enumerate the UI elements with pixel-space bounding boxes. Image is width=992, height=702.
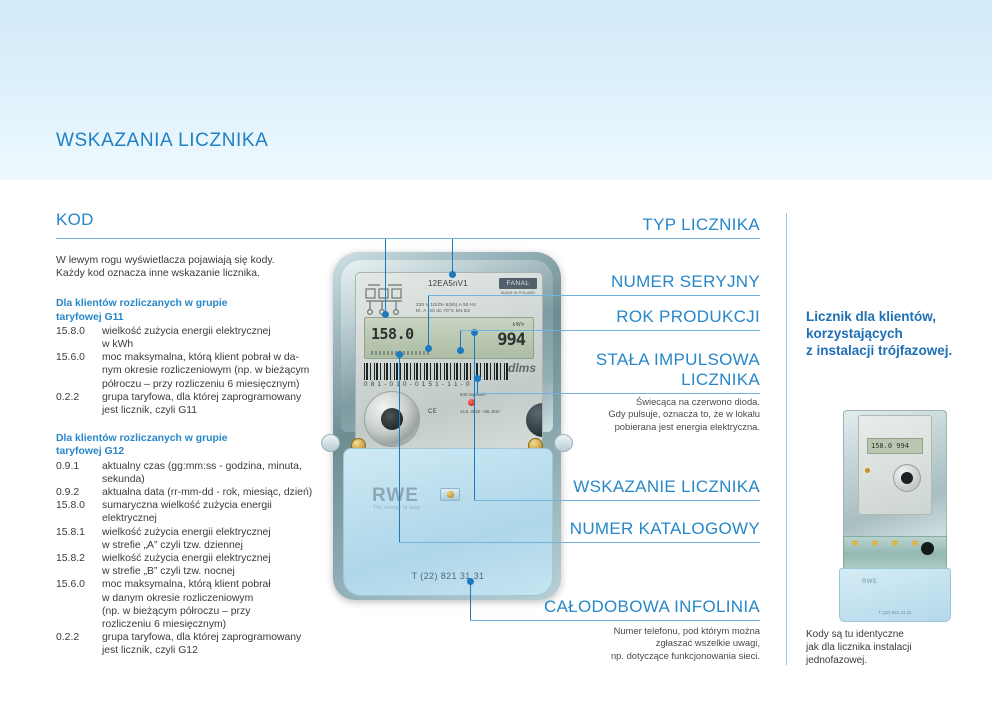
meter3-faceplate: 158.0 994 — [858, 415, 932, 515]
code-key: 0.2.2 — [56, 391, 102, 417]
column-divider — [786, 213, 787, 665]
kod-intro: W lewym rogu wyświetlacza pojawiają się … — [56, 254, 336, 280]
g12-code-table: 0.9.1 aktualny czas (gg:mm:ss - godzina,… — [56, 460, 328, 658]
infolinia-note-line3: np. dotyczące funkcjonowania sieci. — [530, 650, 760, 662]
g12-subheading-line2: taryfowej G12 — [56, 445, 336, 458]
rule-calodobowa — [470, 620, 760, 621]
three-phase-heading: Licznik dla klientów, korzystających z i… — [806, 308, 981, 359]
cover-seal — [440, 488, 460, 501]
rule-numer-seryjny — [428, 295, 760, 296]
code-key: 15.8.1 — [56, 526, 102, 552]
code-key: 15.8.0 — [56, 325, 102, 351]
connector-typ-v — [452, 238, 453, 274]
meter3-housing: 158.0 994 — [843, 410, 947, 540]
code-key: 0.9.1 — [56, 460, 102, 486]
meter-photo-three-phase: 158.0 994 RWE T (22) 821 31 31 — [835, 410, 953, 610]
callout-infolinia-note: Numer telefonu, pod którym można zgłasza… — [530, 625, 760, 662]
rule-stala-impulsowa — [477, 393, 760, 394]
callout-rok-produkcji-label: ROK PRODUKCJI — [530, 307, 760, 327]
meter3-black-knob — [921, 542, 934, 555]
code-key: 15.8.0 — [56, 499, 102, 525]
meter3-lcd-value: 158.0 994 — [868, 439, 922, 453]
rwe-logo: RWE — [372, 485, 419, 507]
code-key: 0.2.2 — [56, 631, 102, 657]
three-phase-heading-line1: Licznik dla klientów, — [806, 308, 981, 325]
callout-wskazanie-licznika: WSKAZANIE LICZNIKA — [530, 477, 760, 497]
stala-note-line1: Świecąca na czerwono dioda. — [530, 396, 760, 408]
table-row: 0.9.1 aktualny czas (gg:mm:ss - godzina,… — [56, 460, 328, 486]
callout-stala-impulsowa-line1: STAŁA IMPULSOWA — [530, 350, 760, 370]
meter3-rwe-logo: RWE — [862, 579, 877, 585]
code-key: 15.8.2 — [56, 552, 102, 578]
lcd-units: kWh — [513, 322, 525, 328]
table-row: 0.2.2 grupa taryfowa, dla której zaprogr… — [56, 391, 328, 417]
three-phase-note-line3: jednofazowej. — [806, 654, 976, 667]
ce-mark: CE — [428, 409, 437, 415]
callout-rok-produkcji: ROK PRODUKCJI — [530, 307, 760, 327]
connector-katalog-v — [399, 354, 400, 543]
optical-port — [364, 391, 420, 447]
callout-stala-impulsowa-line2: LICZNIKA — [530, 370, 760, 390]
table-row: 0.2.2 grupa taryfowa, dla której zaprogr… — [56, 631, 328, 657]
connector-serial-v — [428, 295, 429, 348]
page-title: WSKAZANIA LICZNIKA — [56, 130, 268, 152]
g11-code-table: 15.8.0 wielkość zużycia energii elektryc… — [56, 325, 328, 417]
rule-numer-katalogowy — [399, 542, 760, 543]
code-desc: aktualny czas (gg:mm:ss - godzina, minut… — [102, 460, 328, 486]
code-desc: grupa taryfowa, dla której zaprogramowan… — [102, 631, 328, 657]
connector-dot-kod — [382, 311, 389, 318]
three-phase-note-line1: Kody są tu identyczne — [806, 628, 976, 641]
meter3-terminal-screw — [852, 540, 858, 546]
meter3-led-indicator — [865, 468, 870, 473]
three-phase-note: Kody są tu identyczne jak dla licznika i… — [806, 628, 976, 667]
callout-numer-katalogowy-label: NUMER KATALOGOWY — [530, 519, 760, 539]
seal-wing-right — [554, 434, 573, 452]
infolinia-note-line1: Numer telefonu, pod którym można — [530, 625, 760, 637]
header-band — [0, 0, 992, 180]
connector-dot-typ — [449, 271, 456, 278]
callout-calodobowa-infolinia: CAŁODOBOWA INFOLINIA — [530, 597, 760, 617]
rule-wskazanie-licznika — [474, 500, 760, 501]
connector-infolinia-v — [470, 582, 471, 621]
kod-intro-line2: Każdy kod oznacza inne wskazanie licznik… — [56, 267, 336, 280]
three-phase-column: Licznik dla klientów, korzystających z i… — [806, 308, 981, 359]
code-desc: grupa taryfowa, dla której zaprogramowan… — [102, 391, 328, 417]
meter3-terminal-screw — [872, 540, 878, 546]
callout-typ-licznika: TYP LICZNIKA — [530, 215, 760, 235]
meter-type-code: 12EA5nV1 — [428, 279, 468, 288]
three-phase-heading-line2: korzystających — [806, 325, 981, 342]
meter3-terminal-screw — [912, 540, 918, 546]
code-desc: moc maksymalna, którą klient pobrał w da… — [102, 351, 328, 391]
lcd-code-value: 158.0 — [371, 325, 414, 343]
code-desc: moc maksymalna, którą klient pobrał w da… — [102, 578, 328, 631]
connector-kod-v — [385, 238, 386, 314]
table-row: 15.6.0 moc maksymalna, którą klient pobr… — [56, 351, 328, 391]
three-phase-note-line2: jak dla licznika instalacji — [806, 641, 976, 654]
ce-extra-text: 14.6 .3838 - 05L M10 — [460, 409, 500, 414]
meter3-phone-number: T (22) 821 31 31 — [840, 610, 950, 615]
code-desc: wielkość zużycia energii elektrycznej w … — [102, 325, 328, 351]
meter3-terminal-screw — [892, 540, 898, 546]
callout-numer-katalogowy: NUMER KATALOGOWY — [530, 519, 760, 539]
left-codes-column: KOD W lewym rogu wyświetlacza pojawiają … — [56, 210, 336, 658]
table-row: 15.8.1 wielkość zużycia energii elektryc… — [56, 526, 328, 552]
meter-barcode — [364, 363, 510, 380]
callout-wskazanie-licznika-label: WSKAZANIE LICZNIKA — [530, 477, 760, 497]
table-row: 0.9.2 aktualna data (rr-mm-dd - rok, mie… — [56, 486, 328, 499]
code-key: 15.6.0 — [56, 351, 102, 391]
meter-faceplate: 12EA5nV1 FANAL MADE IN POLAND 230 V 10/2… — [355, 272, 543, 452]
connector-dot-rok — [457, 347, 464, 354]
callout-calodobowa-infolinia-label: CAŁODOBOWA INFOLINIA — [530, 597, 760, 617]
callout-stala-impulsowa: STAŁA IMPULSOWA LICZNIKA — [530, 350, 760, 390]
meter-specs: 230 V 10/25–5(60) A 50 Hz Kl. A -40 do 7… — [416, 302, 538, 314]
terminal-cover: RWE The energy to lead T (22) 821 31 31 — [343, 448, 553, 596]
meter-specs-line2: Kl. A -40 do 70°C M1 E2 — [416, 308, 538, 314]
code-desc: wielkość zużycia energii elektrycznej w … — [102, 526, 328, 552]
code-desc: sumaryczna wielkość zużycia energii elek… — [102, 499, 328, 525]
rwe-tagline: The energy to lead — [373, 505, 420, 511]
code-desc: aktualna data (rr-mm-dd - rok, miesiąc, … — [102, 486, 328, 499]
stala-note-line3: pobierana jest energia elektryczna. — [530, 421, 760, 433]
meter3-terminal-cover: RWE T (22) 821 31 31 — [839, 568, 951, 622]
three-phase-heading-line3: z instalacji trójfazowej. — [806, 342, 981, 359]
table-row: 15.8.0 sumaryczna wielkość zużycia energ… — [56, 499, 328, 525]
rule-rok-produkcji — [460, 330, 760, 331]
table-row: 15.8.0 wielkość zużycia energii elektryc… — [56, 325, 328, 351]
stala-note-line2: Gdy pulsuje, oznacza to, że w lokalu — [530, 408, 760, 420]
meter3-terminal-block — [843, 536, 947, 572]
code-key: 0.9.2 — [56, 486, 102, 499]
kod-intro-line1: W lewym rogu wyświetlacza pojawiają się … — [56, 254, 336, 267]
connector-wskazanie-v — [474, 333, 475, 501]
code-desc: wielkość zużycia energii elektrycznej w … — [102, 552, 328, 578]
table-row: 15.6.0 moc maksymalna, którą klient pobr… — [56, 578, 328, 631]
meter-lcd-display: 158.0 kWh 994 — [364, 317, 534, 359]
lcd-reading-value: 994 — [497, 330, 525, 350]
code-key: 15.6.0 — [56, 578, 102, 631]
callout-numer-seryjny-label: NUMER SERYJNY — [530, 272, 760, 292]
meter3-optical-port — [893, 464, 921, 492]
g11-subheading: Dla klientów rozliczanych w grupie taryf… — [56, 297, 336, 323]
meter-phone-number: T (22) 821 31 31 — [344, 571, 552, 581]
g11-subheading-line1: Dla klientów rozliczanych w grupie — [56, 297, 336, 310]
connector-dot-katalog — [396, 351, 403, 358]
meter3-lcd-display: 158.0 994 — [867, 438, 923, 454]
g11-subheading-line2: taryfowej G11 — [56, 311, 336, 324]
infolinia-note-line2: zgłaszać wszelkie uwagi, — [530, 637, 760, 649]
kod-heading: KOD — [56, 210, 336, 230]
callout-typ-licznika-label: TYP LICZNIKA — [530, 215, 760, 235]
callout-numer-seryjny: NUMER SERYJNY — [530, 272, 760, 292]
seal-wing-left — [321, 434, 340, 452]
callout-stala-note: Świecąca na czerwono dioda. Gdy pulsuje,… — [530, 396, 760, 433]
connector-dot-infolinia — [467, 578, 474, 585]
meter-serial-number: 0 8 1 - 0 1 0 - 0 1 5 1 - 1 1 - 0 — [364, 381, 470, 388]
table-row: 15.8.2 wielkość zużycia energii elektryc… — [56, 552, 328, 578]
meter-photo-single-phase: 12EA5nV1 FANAL MADE IN POLAND 230 V 10/2… — [333, 252, 561, 600]
g12-subheading: Dla klientów rozliczanych w grupie taryf… — [56, 432, 336, 458]
rule-typ-licznika — [330, 238, 760, 239]
g12-subheading-line1: Dla klientów rozliczanych w grupie — [56, 432, 336, 445]
connector-dot-serial — [425, 345, 432, 352]
